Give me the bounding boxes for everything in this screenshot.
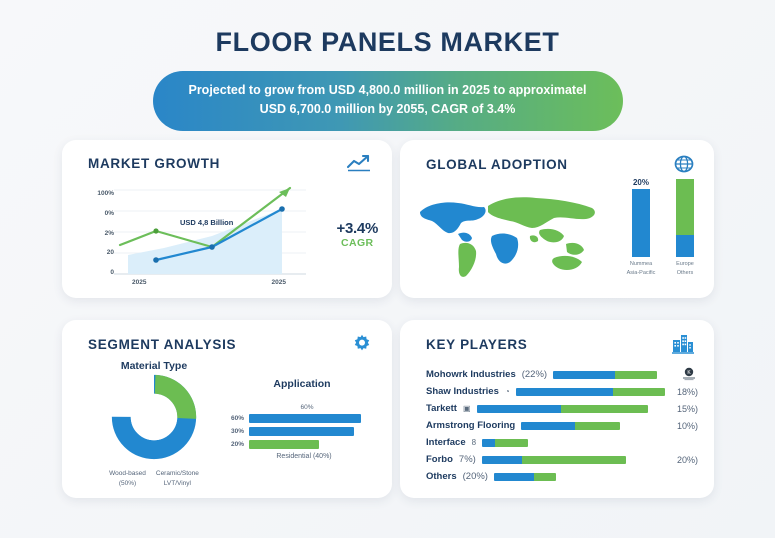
player-bar <box>477 405 648 413</box>
player-mini-icon: ▣ <box>463 404 471 413</box>
adoption-bars: 20% Nummea Asia-Pacific 30% <box>626 178 700 277</box>
global-adoption-header: GLOBAL ADOPTION <box>400 140 714 174</box>
key-players-list: Mohowrk Industries (22%) K <box>400 354 714 485</box>
material-legend: Wood-based (50%) Ceramic/Stone LVT/Vinyl <box>84 469 224 489</box>
table-row: Forbo 7%) 20%) <box>426 451 698 468</box>
legend-item: Wood-based (50%) <box>109 469 146 489</box>
global-adoption-card: GLOBAL ADOPTION <box>400 140 714 298</box>
legend-item: Ceramic/Stone LVT/Vinyl <box>156 469 199 489</box>
legend-label-line1: Wood-based <box>109 469 146 479</box>
adoption-region-bottom: Others <box>670 269 700 278</box>
y-tick: 20 <box>107 249 114 256</box>
application-footer-label: Residential (40%) <box>220 453 370 460</box>
table-row: Tarkett ▣ 15%) <box>426 400 698 417</box>
gear-icon <box>352 334 372 354</box>
key-players-header: KEY PLAYERS <box>400 320 714 354</box>
material-donut <box>105 374 203 460</box>
market-growth-title: MARKET GROWTH <box>88 156 220 171</box>
page-title: FLOOR PANELS MARKET <box>0 0 775 58</box>
trending-up-icon <box>346 154 372 172</box>
legend-label-line2: LVT/Vinyl <box>156 479 199 489</box>
segment-analysis-body: Material Type Wood-based (50%) Ceramic/S… <box>62 354 392 494</box>
growth-x-axis: 2025 2025 <box>114 279 304 286</box>
world-map-graphic <box>414 186 614 286</box>
player-value: 10%) <box>677 421 698 431</box>
cagr-callout: +3.4% CAGR <box>337 220 378 249</box>
key-players-title: KEY PLAYERS <box>426 337 528 352</box>
player-name: Mohowrk Industries <box>426 369 516 380</box>
segment-analysis-title: SEGMENT ANALYSIS <box>88 337 236 352</box>
cagr-label: CAGR <box>337 237 378 249</box>
y-tick: 100% <box>97 190 114 197</box>
player-value: 15%) <box>677 404 698 414</box>
application-chart: Application 60% 60% 30% 20% Residential <box>220 378 370 460</box>
material-type-title: Material Type <box>84 360 224 372</box>
adoption-bar <box>676 179 694 257</box>
application-bar <box>249 414 361 423</box>
market-growth-chart: 100% 0% 2% 20 0 <box>62 176 392 288</box>
adoption-region-top: Nummea <box>626 260 656 269</box>
player-share: (22%) <box>522 369 547 380</box>
y-tick: 0% <box>105 210 114 217</box>
player-mini-icon: ◔ <box>505 387 510 396</box>
player-bar <box>482 439 528 447</box>
application-top-label: 60% <box>220 404 370 411</box>
banner-line-2: USD 6,700.0 million by 2055, CAGR of 3.4… <box>175 100 601 119</box>
adoption-bar-value: 20% <box>626 178 656 187</box>
adoption-bar-group: 20% Nummea Asia-Pacific <box>626 178 656 277</box>
application-bar-row: 20% <box>220 440 370 449</box>
player-name: Shaw Industries <box>426 386 499 397</box>
table-row: Armstrong Flooring 10%) <box>426 417 698 434</box>
application-bar-label: 60% <box>220 415 244 422</box>
player-bar <box>521 422 620 430</box>
legend-label-line2: (50%) <box>109 479 146 489</box>
adoption-bar-group: 30% Europe Others <box>670 178 700 277</box>
banner-line-1: Projected to grow from USD 4,800.0 milli… <box>175 81 601 100</box>
adoption-region-bottom: Asia-Pacific <box>626 269 656 278</box>
buildings-icon <box>672 334 694 354</box>
cagr-value: +3.4% <box>337 220 378 237</box>
infographic-page: FLOOR PANELS MARKET Projected to grow fr… <box>0 0 775 538</box>
application-bar-row: 30% <box>220 427 370 436</box>
player-share: 7%) <box>459 454 476 465</box>
x-tick: 2025 <box>132 279 146 286</box>
adoption-bar-label: Europe Others <box>670 260 700 277</box>
y-tick: 2% <box>105 230 114 237</box>
player-name: Interface <box>426 437 466 448</box>
application-bar <box>249 427 354 436</box>
cards-grid: MARKET GROWTH 100% 0% 2% 20 0 <box>62 140 714 498</box>
segment-analysis-header: SEGMENT ANALYSIS <box>62 320 392 354</box>
player-name: Forbo <box>426 454 453 465</box>
projection-banner: Projected to grow from USD 4,800.0 milli… <box>153 71 623 131</box>
globe-icon <box>674 154 694 174</box>
x-tick: 2025 <box>272 279 286 286</box>
adoption-bar-label: Nummea Asia-Pacific <box>626 260 656 277</box>
player-bar <box>482 456 626 464</box>
player-share: (20%) <box>463 471 488 482</box>
player-bar <box>516 388 665 396</box>
table-row: Shaw Industries ◔ 18%) <box>426 383 698 400</box>
application-bar-row: 60% <box>220 414 370 423</box>
player-mini-icon: 8 <box>472 438 476 447</box>
growth-y-axis: 100% 0% 2% 20 0 <box>76 190 114 276</box>
player-bar <box>494 473 556 481</box>
market-growth-card: MARKET GROWTH 100% 0% 2% 20 0 <box>62 140 392 298</box>
table-row: Interface 8 <box>426 434 698 451</box>
player-name: Armstrong Flooring <box>426 420 515 431</box>
player-name: Others <box>426 471 457 482</box>
key-players-card: KEY PLAYERS <box>400 320 714 498</box>
adoption-region-top: Europe <box>670 260 700 269</box>
global-adoption-title: GLOBAL ADOPTION <box>426 157 568 172</box>
growth-series-label: USD 4,8 Billion <box>180 218 233 227</box>
world-map-chart: 20% Nummea Asia-Pacific 30% <box>400 174 714 292</box>
material-type-chart: Material Type Wood-based (50%) Ceramic/S… <box>84 360 224 489</box>
application-bar-label: 30% <box>220 428 244 435</box>
table-row: Others (20%) <box>426 468 698 485</box>
adoption-bar <box>632 189 650 257</box>
player-value: 20%) <box>677 455 698 465</box>
player-name: Tarkett <box>426 403 457 414</box>
player-bar <box>553 371 657 379</box>
application-bar <box>249 440 319 449</box>
segment-analysis-card: SEGMENT ANALYSIS Material Type <box>62 320 392 498</box>
growth-plot <box>114 186 306 280</box>
application-title: Application <box>220 378 370 390</box>
player-value: 18%) <box>677 387 698 397</box>
application-bar-label: 20% <box>220 441 244 448</box>
legend-label-line1: Ceramic/Stone <box>156 469 199 479</box>
badge-icon: K <box>680 367 698 383</box>
table-row: Mohowrk Industries (22%) K <box>426 366 698 383</box>
market-growth-header: MARKET GROWTH <box>62 140 392 172</box>
